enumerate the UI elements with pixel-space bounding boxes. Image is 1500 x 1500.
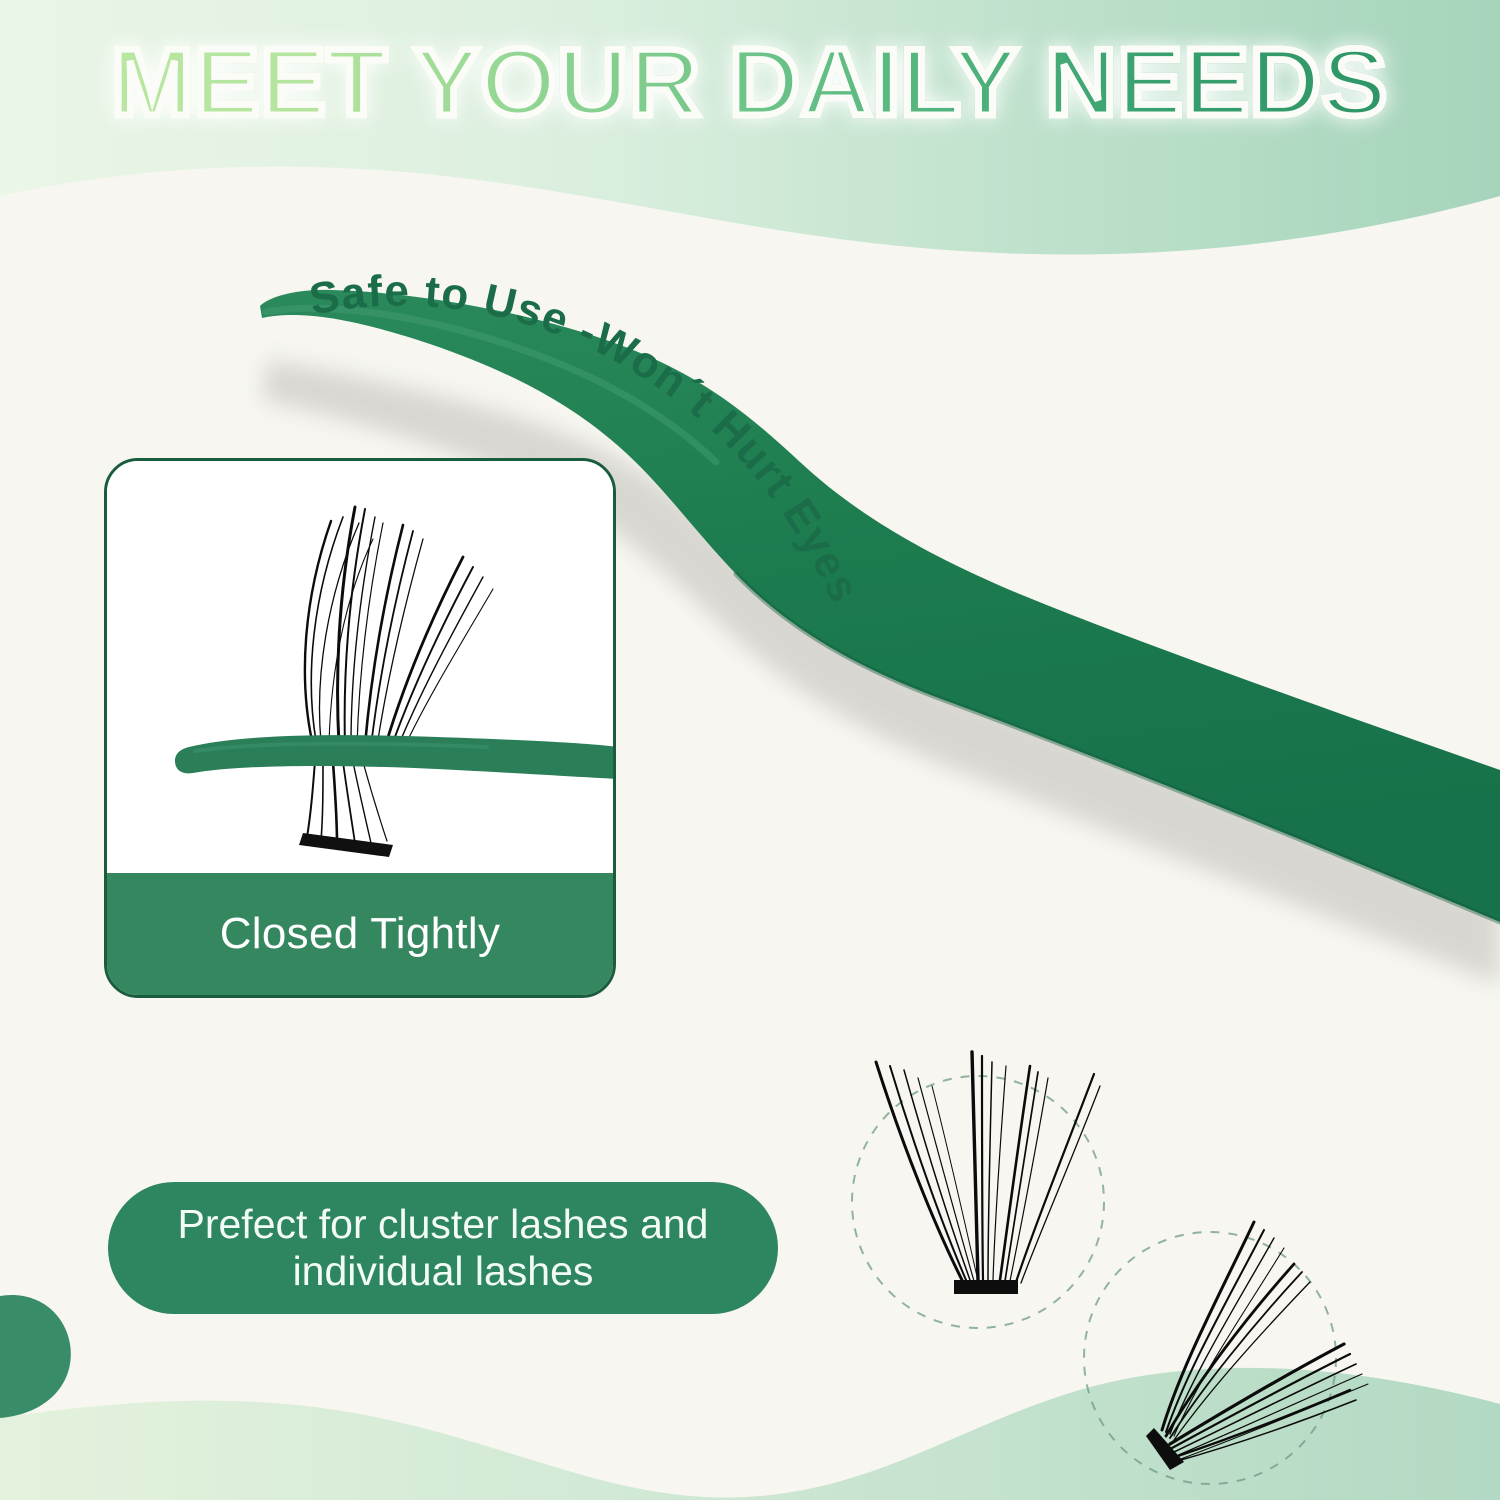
page-title: MEET YOUR DAILY NEEDS — [112, 34, 1389, 132]
dashed-circle-highlight-2 — [1084, 1232, 1336, 1484]
product-marketing-image: MEET YOUR DAILY NEEDS — [0, 0, 1500, 1500]
pill-line-2: individual lashes — [293, 1248, 594, 1294]
lash-band-upright — [954, 1280, 1018, 1294]
headline-container: MEET YOUR DAILY NEEDS — [0, 34, 1500, 132]
lash-fibers-angled — [1162, 1222, 1368, 1462]
closed-tightly-photo — [107, 461, 613, 879]
lash-fibers-inset — [305, 507, 493, 843]
lash-band-inset — [299, 833, 393, 857]
tweezer-tip-inset — [175, 735, 613, 779]
cluster-lashes-pill: Prefect for cluster lashes and individua… — [108, 1182, 778, 1314]
closed-tightly-card: Closed Tightly — [104, 458, 616, 998]
pill-line-1: Prefect for cluster lashes and — [178, 1201, 709, 1247]
closed-tightly-photo-svg — [107, 461, 613, 879]
cluster-lashes-pill-text: Prefect for cluster lashes and individua… — [178, 1201, 709, 1294]
lash-cluster-angled — [1058, 1168, 1418, 1500]
closed-tightly-caption: Closed Tightly — [220, 909, 501, 959]
closed-tightly-caption-band: Closed Tightly — [107, 873, 613, 995]
